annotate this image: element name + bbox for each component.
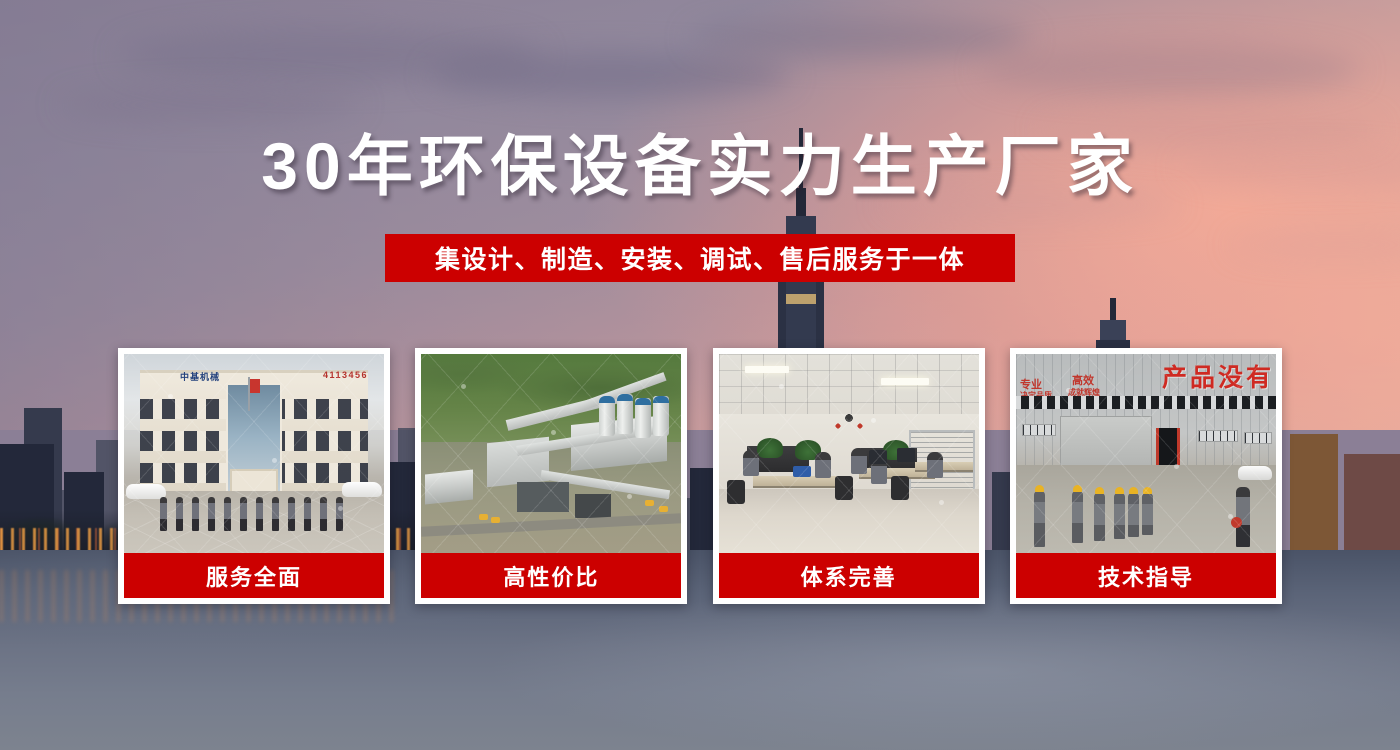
office-interior-staff-photo [719,354,979,553]
banner-subtitle-text: 集设计、制造、安装、调试、售后服务于一体 [435,240,965,276]
photo-phone-number: 4113456 [323,370,368,380]
company-building-staff-photo: 中基机械 4113456 [124,354,384,553]
feature-card-label: 技术指导 [1016,553,1276,598]
feature-card-label: 体系完善 [719,553,979,598]
feature-card[interactable]: 体系完善 [713,348,985,604]
feature-card-label: 高性价比 [421,553,681,598]
banner-headline: 30年环保设备实力生产厂家 [0,132,1400,201]
hero-banner: 30年环保设备实力生产厂家 集设计、制造、安装、调试、售后服务于一体 中基机械 … [0,0,1400,750]
aerial-industrial-plant-photo [421,354,681,553]
feature-card-label: 服务全面 [124,553,384,598]
feature-card-row: 中基机械 4113456 [118,348,1282,604]
photo-slogan-2: 高效 [1072,372,1094,388]
photo-factory-sign: 产品没有 [1162,358,1274,394]
feature-card[interactable]: 中基机械 4113456 [118,348,390,604]
feature-card[interactable]: 产品没有 专业 决定品质 高效 成就辉煌 [1010,348,1282,604]
feature-card[interactable]: 高性价比 [415,348,687,604]
banner-subtitle-bar: 集设计、制造、安装、调试、售后服务于一体 [385,234,1015,282]
photo-company-sign: 中基机械 [180,370,220,383]
factory-workers-training-photo: 产品没有 专业 决定品质 高效 成就辉煌 [1016,354,1276,553]
